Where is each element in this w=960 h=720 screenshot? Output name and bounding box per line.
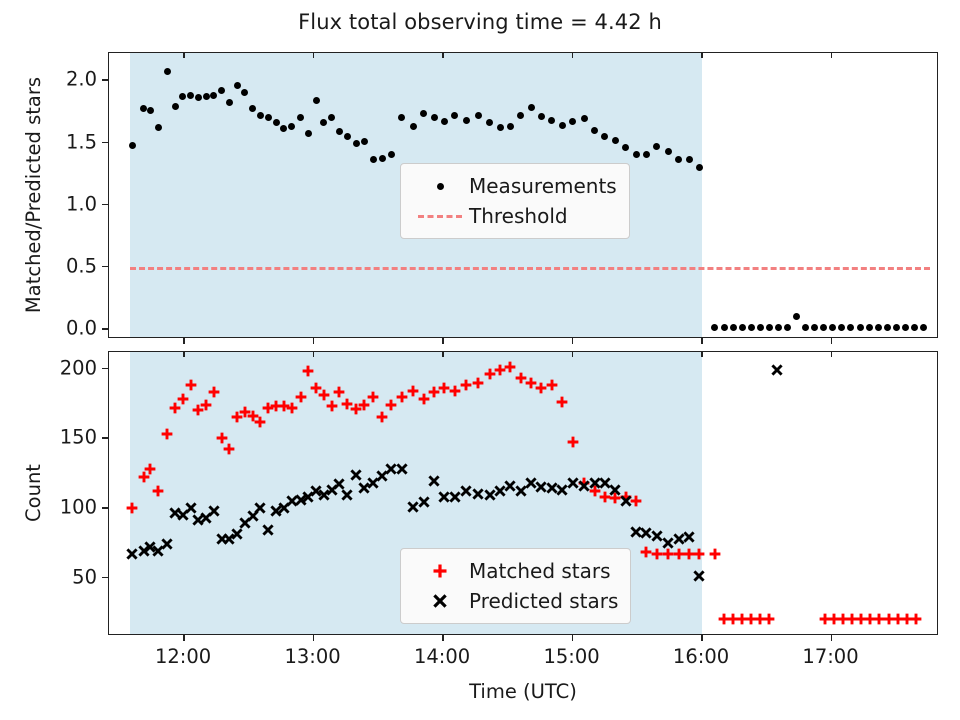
- matched-star-point: [424, 399, 425, 400]
- measurement-point: [517, 112, 524, 119]
- predicted-star-point: [444, 497, 445, 498]
- measurement-point: [793, 313, 800, 320]
- x-tick-label: 13:00: [284, 645, 340, 668]
- x-tick-mark: [831, 351, 833, 357]
- x-tick-mark: [183, 351, 185, 357]
- predicted-star-point: [253, 516, 254, 517]
- predicted-star-point: [584, 486, 585, 487]
- x-tick-mark: [701, 52, 703, 58]
- x-tick-mark: [313, 635, 315, 641]
- measurement-point: [884, 324, 891, 331]
- matched-star-point: [466, 385, 467, 386]
- measurement-point: [838, 324, 845, 331]
- predicted-star-point: [699, 576, 700, 577]
- matched-star-point: [699, 554, 700, 555]
- measurement-point: [893, 324, 900, 331]
- figure-root: Flux total observing time = 4.42 h 0.00.…: [0, 0, 960, 720]
- predicted-star-point: [668, 543, 669, 544]
- y-tick-mark: [102, 368, 108, 370]
- matched-star-point: [573, 442, 574, 443]
- x-axis-label: Time (UTC): [108, 680, 938, 703]
- matched-star-point: [562, 402, 563, 403]
- measurement-point: [548, 117, 555, 124]
- matched-star-point: [521, 378, 522, 379]
- predicted-star-point: [490, 495, 491, 496]
- predicted-star-point: [466, 491, 467, 492]
- x-tick-mark: [701, 635, 703, 641]
- matched-star-point: [402, 397, 403, 398]
- x-tick-mark: [442, 635, 444, 641]
- predicted-star-point: [657, 536, 658, 537]
- measurement-point: [875, 324, 882, 331]
- legend-label-threshold: Threshold: [469, 204, 568, 228]
- measurement-point: [507, 123, 514, 130]
- measurement-point: [591, 127, 598, 134]
- measurement-point: [766, 324, 773, 331]
- y-tick-label: 1.5: [0, 130, 97, 153]
- predicted-star-point: [573, 483, 574, 484]
- matched-star-point: [132, 508, 133, 509]
- measurement-point: [361, 138, 368, 145]
- y-tick-mark: [102, 266, 108, 268]
- predicted-star-point: [191, 508, 192, 509]
- x-tick-mark: [572, 338, 574, 344]
- matched-star-point: [679, 554, 680, 555]
- y-tick-label: 100: [0, 495, 97, 518]
- legend-item-measurements: Measurements: [411, 171, 617, 201]
- measurement-point: [379, 155, 386, 162]
- dashed-line-icon: [411, 215, 469, 218]
- matched-star-point: [260, 422, 261, 423]
- matched-star-point: [229, 449, 230, 450]
- legend-item-matched-stars: Matched stars: [411, 556, 618, 586]
- matched-star-point: [183, 399, 184, 400]
- measurement-point: [234, 82, 241, 89]
- matched-star-point: [324, 395, 325, 396]
- matched-star-point: [150, 469, 151, 470]
- predicted-star-point: [679, 539, 680, 540]
- measurement-point: [431, 114, 438, 121]
- predicted-star-point: [562, 490, 563, 491]
- measurement-point: [757, 324, 764, 331]
- x-tick-mark: [183, 52, 185, 58]
- measurement-point: [129, 142, 136, 149]
- matched-star-point: [206, 405, 207, 406]
- legend-label-measurements: Measurements: [469, 174, 617, 198]
- x-tick-mark: [313, 52, 315, 58]
- predicted-star-point: [777, 370, 778, 371]
- y-tick-mark: [102, 437, 108, 439]
- measurement-point: [155, 124, 162, 131]
- x-tick-mark: [701, 351, 703, 357]
- x-tick-mark: [313, 338, 315, 344]
- predicted-star-point: [455, 497, 456, 498]
- legend-item-threshold: Threshold: [411, 201, 617, 231]
- bottom-panel-ylabel: Count: [22, 464, 45, 522]
- x-tick-label: 15:00: [543, 645, 599, 668]
- matched-star-point: [552, 385, 553, 386]
- predicted-star-point: [347, 495, 348, 496]
- measurement-point: [147, 107, 154, 114]
- measurement-point: [748, 324, 755, 331]
- measurement-point: [463, 117, 470, 124]
- measurement-point: [273, 119, 280, 126]
- matched-star-point: [769, 619, 770, 620]
- measurement-point: [441, 118, 448, 125]
- predicted-star-point: [615, 490, 616, 491]
- matched-star-point: [332, 406, 333, 407]
- matched-star-point: [510, 367, 511, 368]
- measurement-point: [784, 324, 791, 331]
- measurement-point: [866, 324, 873, 331]
- matched-star-point: [615, 498, 616, 499]
- measurement-point: [288, 123, 295, 130]
- y-tick-mark: [102, 204, 108, 206]
- matched-star-point: [382, 417, 383, 418]
- x-tick-label: 17:00: [802, 645, 858, 668]
- matched-star-point: [657, 554, 658, 555]
- predicted-star-point: [237, 534, 238, 535]
- predicted-star-point: [356, 475, 357, 476]
- plus-icon: [411, 561, 469, 581]
- matched-star-point: [191, 385, 192, 386]
- x-tick-mark: [442, 52, 444, 58]
- matched-star-point: [222, 438, 223, 439]
- predicted-star-point: [268, 530, 269, 531]
- x-tick-mark: [183, 635, 185, 641]
- measurement-point: [172, 103, 179, 110]
- matched-star-point: [715, 554, 716, 555]
- measurement-point: [902, 324, 909, 331]
- matched-star-point: [531, 383, 532, 384]
- predicted-star-point: [510, 486, 511, 487]
- matched-star-point: [636, 501, 637, 502]
- predicted-star-point: [167, 544, 168, 545]
- threshold-line: [130, 267, 930, 270]
- y-tick-mark: [102, 577, 108, 579]
- x-tick-mark: [183, 338, 185, 344]
- measurement-point: [164, 68, 171, 75]
- measurement-point: [538, 113, 545, 120]
- y-tick-label: 200: [0, 356, 97, 379]
- top-panel-legend: Measurements Threshold: [400, 163, 630, 239]
- matched-star-point: [308, 371, 309, 372]
- measurement-point: [336, 128, 343, 135]
- predicted-star-point: [413, 507, 414, 508]
- dot-icon: [411, 183, 469, 190]
- predicted-star-point: [636, 532, 637, 533]
- y-tick-label: 150: [0, 426, 97, 449]
- predicted-star-point: [434, 481, 435, 482]
- measurement-point: [696, 164, 703, 171]
- y-tick-mark: [102, 507, 108, 509]
- predicted-star-point: [521, 491, 522, 492]
- matched-star-point: [339, 392, 340, 393]
- measurement-point: [203, 93, 210, 100]
- measurement-point: [528, 104, 535, 111]
- measurement-point: [633, 151, 640, 158]
- measurement-point: [730, 324, 737, 331]
- predicted-star-point: [500, 491, 501, 492]
- x-tick-mark: [313, 351, 315, 357]
- y-tick-mark: [102, 79, 108, 81]
- cross-icon: [411, 591, 469, 611]
- matched-star-point: [455, 391, 456, 392]
- measurement-point: [820, 324, 827, 331]
- matched-star-point: [646, 552, 647, 553]
- x-tick-mark: [442, 338, 444, 344]
- y-tick-mark: [102, 142, 108, 144]
- x-tick-mark: [442, 351, 444, 357]
- matched-star-point: [373, 397, 374, 398]
- predicted-star-point: [132, 554, 133, 555]
- x-tick-label: 16:00: [673, 645, 729, 668]
- measurement-point: [847, 324, 854, 331]
- predicted-star-point: [531, 483, 532, 484]
- measurement-point: [653, 143, 660, 150]
- y-tick-label: 50: [0, 565, 97, 588]
- measurement-point: [257, 112, 264, 119]
- matched-star-point: [605, 497, 606, 498]
- measurement-point: [497, 124, 504, 131]
- predicted-star-point: [541, 487, 542, 488]
- x-tick-mark: [572, 351, 574, 357]
- predicted-star-point: [605, 483, 606, 484]
- measurement-point: [829, 324, 836, 331]
- measurement-point: [569, 118, 576, 125]
- matched-star-point: [175, 408, 176, 409]
- measurement-point: [711, 324, 718, 331]
- measurement-point: [313, 97, 320, 104]
- predicted-star-point: [214, 511, 215, 512]
- x-tick-mark: [831, 635, 833, 641]
- y-tick-label: 0.5: [0, 254, 97, 277]
- matched-star-point: [478, 383, 479, 384]
- predicted-star-point: [424, 502, 425, 503]
- y-tick-label: 2.0: [0, 68, 97, 91]
- x-tick-mark: [572, 52, 574, 58]
- measurement-point: [920, 324, 927, 331]
- matched-star-point: [214, 392, 215, 393]
- x-tick-mark: [701, 338, 703, 344]
- legend-label-predicted-stars: Predicted stars: [469, 589, 618, 613]
- predicted-star-point: [391, 469, 392, 470]
- measurement-point: [559, 122, 566, 129]
- measurement-point: [739, 324, 746, 331]
- predicted-star-point: [552, 488, 553, 489]
- matched-star-point: [444, 388, 445, 389]
- legend-item-predicted-stars: Predicted stars: [411, 586, 618, 616]
- measurement-point: [802, 324, 809, 331]
- legend-label-matched-stars: Matched stars: [469, 559, 611, 583]
- matched-star-point: [364, 405, 365, 406]
- predicted-star-point: [646, 533, 647, 534]
- x-tick-mark: [572, 635, 574, 641]
- predicted-star-point: [260, 508, 261, 509]
- measurement-point: [451, 112, 458, 119]
- predicted-star-point: [689, 537, 690, 538]
- x-tick-label: 14:00: [414, 645, 470, 668]
- matched-star-point: [413, 391, 414, 392]
- x-tick-mark: [831, 338, 833, 344]
- measurement-point: [475, 112, 482, 119]
- measurement-point: [218, 87, 225, 94]
- measurement-point: [612, 137, 619, 144]
- measurement-point: [187, 92, 194, 99]
- measurement-point: [911, 324, 918, 331]
- measurement-point: [410, 123, 417, 130]
- matched-star-point: [689, 554, 690, 555]
- matched-star-point: [595, 491, 596, 492]
- x-tick-mark: [831, 52, 833, 58]
- matched-star-point: [490, 374, 491, 375]
- figure-title: Flux total observing time = 4.42 h: [0, 10, 960, 34]
- top-panel-ylabel: Matched/Predicted stars: [22, 77, 45, 313]
- predicted-star-point: [339, 484, 340, 485]
- matched-star-point: [292, 408, 293, 409]
- measurement-point: [775, 324, 782, 331]
- bottom-panel-legend: Matched stars Predicted stars: [400, 548, 631, 624]
- predicted-star-point: [402, 469, 403, 470]
- y-tick-label: 1.0: [0, 192, 97, 215]
- matched-star-point: [541, 388, 542, 389]
- measurement-point: [344, 133, 351, 140]
- measurement-point: [665, 148, 672, 155]
- y-tick-mark: [102, 328, 108, 330]
- matched-star-point: [144, 477, 145, 478]
- measurement-point: [811, 324, 818, 331]
- matched-star-point: [668, 554, 669, 555]
- matched-star-point: [301, 397, 302, 398]
- measurement-point: [721, 324, 728, 331]
- predicted-star-point: [478, 494, 479, 495]
- matched-star-point: [434, 392, 435, 393]
- matched-star-point: [916, 619, 917, 620]
- measurement-point: [857, 324, 864, 331]
- x-tick-label: 12:00: [155, 645, 211, 668]
- predicted-star-point: [595, 483, 596, 484]
- matched-star-point: [158, 491, 159, 492]
- matched-star-point: [391, 405, 392, 406]
- matched-star-point: [167, 434, 168, 435]
- predicted-star-point: [626, 501, 627, 502]
- measurement-point: [265, 114, 272, 121]
- matched-star-point: [500, 370, 501, 371]
- y-tick-label: 0.0: [0, 317, 97, 340]
